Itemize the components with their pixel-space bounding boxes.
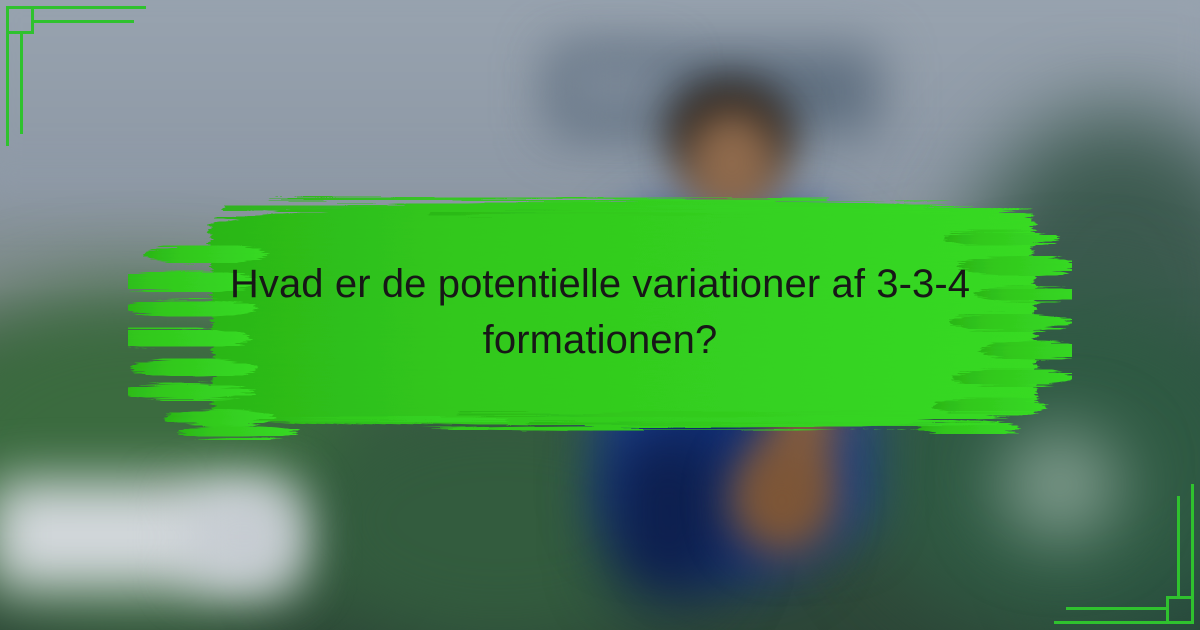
- corner-line-vertical-outer: [1191, 484, 1194, 596]
- player-hand-ball: [730, 446, 834, 556]
- corner-ornament-top-left: [0, 0, 170, 170]
- corner-line-vertical-outer: [6, 34, 9, 146]
- player-shorts: [608, 430, 728, 600]
- corner-ornament-bottom-right: [1030, 460, 1200, 630]
- corner-line-horizontal-inner: [34, 20, 134, 23]
- page-title: Hvad er de potentielle variationer af 3-…: [150, 256, 1050, 368]
- corner-square-icon: [1166, 596, 1194, 624]
- corner-line-horizontal-outer: [34, 6, 146, 9]
- corner-square-icon: [6, 6, 34, 34]
- building-bleachers-2: [190, 492, 300, 582]
- stadium-structure-highlight: [560, 56, 670, 116]
- corner-line-horizontal-outer: [1054, 621, 1166, 624]
- corner-line-vertical-inner: [1177, 496, 1180, 596]
- corner-line-horizontal-inner: [1066, 607, 1166, 610]
- social-card: Hvad er de potentielle variationer af 3-…: [0, 0, 1200, 630]
- corner-line-vertical-inner: [20, 34, 23, 134]
